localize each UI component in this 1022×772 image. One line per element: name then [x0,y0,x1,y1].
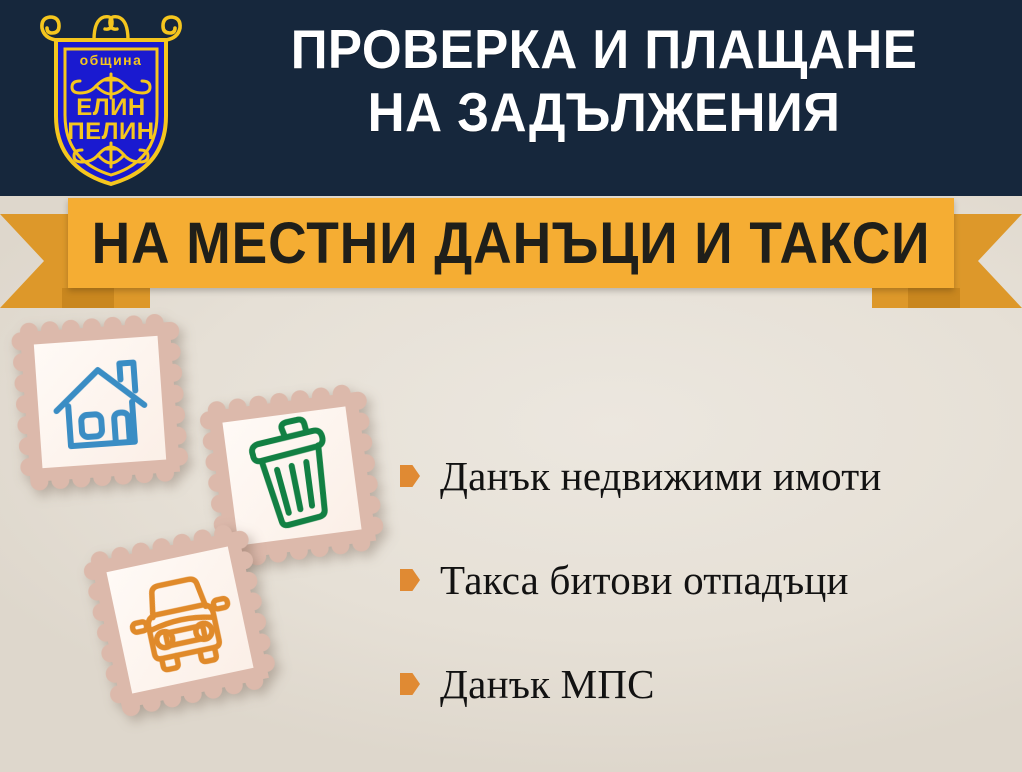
page-title-line-2: НА ЗАДЪЛЖЕНИЯ [225,81,984,144]
ribbon-fold-right [908,288,960,308]
list-item[interactable]: Данък недвижими имоти [400,424,1010,528]
coat-of-arms-icon: община ЕЛИН ПЕЛИН [36,8,186,188]
svg-text:ЕЛИН: ЕЛИН [76,94,145,121]
ribbon-label: НА МЕСТНИ ДАНЪЦИ И ТАКСИ [103,198,918,288]
list-item-label: Данък МПС [440,660,655,708]
stamp-card-car [80,520,279,719]
svg-text:община: община [80,52,143,68]
poster-root: община ЕЛИН ПЕЛИН ПРОВЕРКА И ПЛАЩАНЕ НА … [0,0,1022,772]
tax-types-list: Данък недвижими имоти Такса битови отпад… [400,424,1010,736]
list-item-label: Такса битови отпадъци [440,556,849,604]
page-title-line-1: ПРОВЕРКА И ПЛАЩАНЕ [225,18,984,81]
list-item-label: Данък недвижими имоти [440,452,882,500]
ribbon-banner: НА МЕСТНИ ДАНЪЦИ И ТАКСИ [0,196,1022,308]
arrow-bullet-icon [400,673,420,695]
ribbon-band: НА МЕСТНИ ДАНЪЦИ И ТАКСИ [68,198,954,288]
stamp-card-house [10,312,189,491]
list-item[interactable]: Данък МПС [400,632,1010,736]
arrow-bullet-icon [400,465,420,487]
list-item[interactable]: Такса битови отпадъци [400,528,1010,632]
page-title: ПРОВЕРКА И ПЛАЩАНЕ НА ЗАДЪЛЖЕНИЯ [225,18,984,145]
arrow-bullet-icon [400,569,420,591]
header-banner: община ЕЛИН ПЕЛИН ПРОВЕРКА И ПЛАЩАНЕ НА … [0,0,1022,196]
svg-text:ПЕЛИН: ПЕЛИН [67,118,154,145]
ribbon-fold-left [62,288,114,308]
